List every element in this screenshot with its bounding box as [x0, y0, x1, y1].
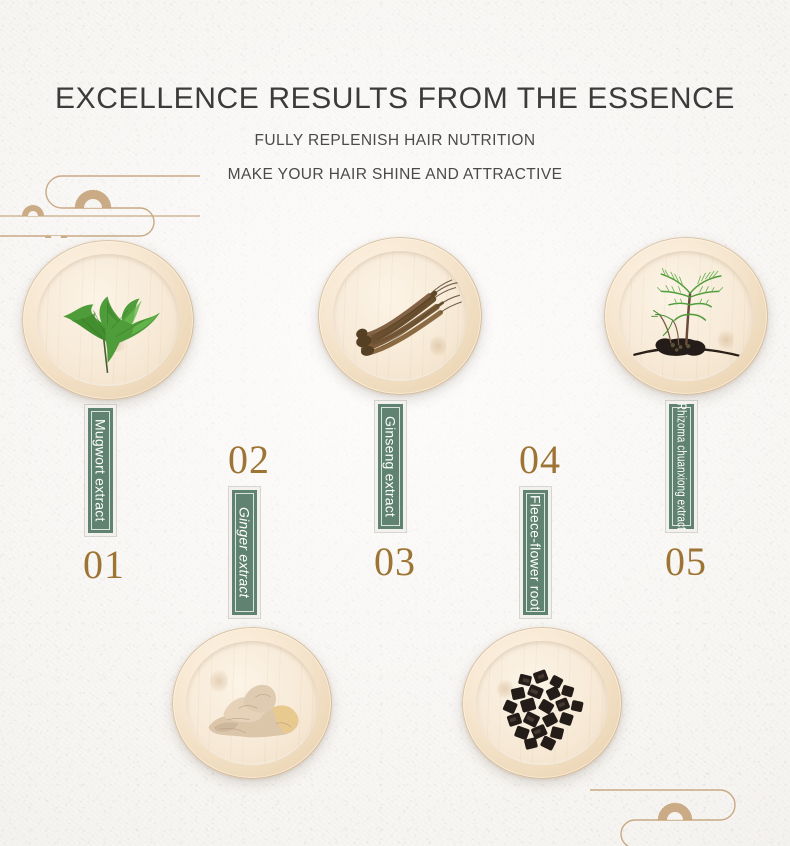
ingredient-number-01: 01 [83, 545, 125, 585]
fleece-flower-root-icon [476, 641, 607, 766]
tag-label-ginger: Ginger extract [237, 507, 253, 598]
chuanxiong-plant-icon [619, 251, 754, 381]
plate-well [186, 641, 317, 766]
tag-ginseng-extract[interactable]: Ginseng extract [375, 401, 406, 532]
tag-mugwort-extract[interactable]: Mugwort extract [85, 405, 116, 536]
ginger-root-icon [186, 641, 317, 766]
plate-well [476, 641, 607, 766]
mugwort-leaf-icon [37, 254, 178, 385]
tag-fleece-flower-root[interactable]: Fleece-flower root [520, 487, 551, 618]
tag-ginger-extract[interactable]: Ginger extract [229, 487, 260, 618]
ingredient-number-02: 02 [228, 440, 270, 480]
plate-fleece-flower-root [462, 627, 622, 779]
ingredient-number-05: 05 [665, 542, 707, 582]
tag-label-rhizoma-chuanxiong: Rhizoma chuanxiong extract [675, 403, 689, 530]
page-subtitle-1: FULLY REPLENISH HAIR NUTRITION [0, 132, 790, 150]
tag-label-mugwort: Mugwort extract [93, 419, 109, 522]
tag-label-ginseng: Ginseng extract [383, 416, 399, 517]
ingredient-number-04: 04 [519, 440, 561, 480]
plate-well [37, 254, 178, 385]
plate-well [333, 251, 468, 381]
plate-rhizoma-chuanxiong [604, 237, 768, 395]
page-subtitle-2: MAKE YOUR HAIR SHINE AND ATTRACTIVE [0, 166, 790, 184]
plate-well [619, 251, 754, 381]
ingredient-number-03: 03 [374, 542, 416, 582]
plate-ginseng [318, 237, 482, 395]
page-title: EXCELLENCE RESULTS FROM THE ESSENCE [0, 82, 790, 116]
plate-mugwort [22, 240, 194, 400]
tag-label-fleece-flower-root: Fleece-flower root [528, 495, 544, 611]
plate-ginger [172, 627, 332, 779]
product-ingredients-banner: EXCELLENCE RESULTS FROM THE ESSENCE FULL… [0, 0, 790, 846]
ginseng-root-icon [333, 251, 468, 381]
tag-rhizoma-chuanxiong-extract[interactable]: Rhizoma chuanxiong extract [666, 401, 697, 532]
